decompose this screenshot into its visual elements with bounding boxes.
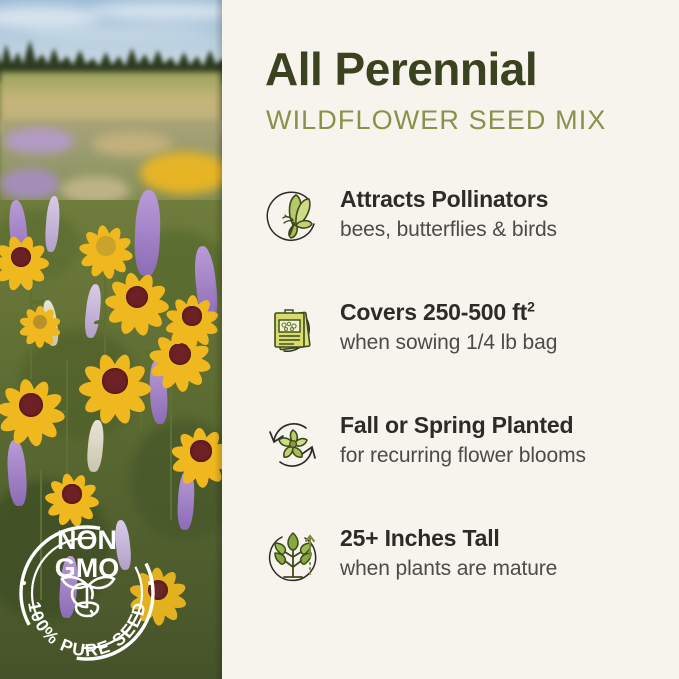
yellow-flower bbox=[44, 466, 100, 522]
yellow-flower bbox=[0, 370, 66, 440]
flower-cycle-icon bbox=[262, 414, 324, 476]
product-infographic: NON GMO 100% PURE SEED bbox=[0, 0, 679, 679]
feature-title-main: Covers 250-500 ft bbox=[340, 299, 527, 325]
feature-item: Attracts Pollinators bees, butterflies &… bbox=[262, 186, 662, 299]
badge-dot bbox=[22, 581, 26, 585]
page-title: All Perennial bbox=[265, 43, 537, 95]
plant-height-icon bbox=[262, 527, 324, 589]
seed-packet-icon bbox=[262, 301, 324, 363]
badge-dot bbox=[148, 581, 152, 585]
feature-title: 25+ Inches Tall bbox=[340, 523, 670, 553]
photo-edge-shadow bbox=[214, 0, 222, 679]
page-subtitle: WILDFLOWER SEED MIX bbox=[266, 104, 606, 136]
yellow-flower bbox=[18, 300, 62, 344]
yellow-flower bbox=[104, 264, 170, 330]
butterfly-icon bbox=[262, 188, 324, 250]
feature-subtitle: for recurring flower blooms bbox=[340, 442, 670, 470]
feature-text: Fall or Spring Planted for recurring flo… bbox=[340, 410, 670, 470]
feature-title: Attracts Pollinators bbox=[340, 184, 670, 214]
non-gmo-badge: NON GMO 100% PURE SEED bbox=[12, 515, 162, 665]
feature-subtitle: when plants are mature bbox=[340, 555, 670, 583]
blurred-flowers bbox=[140, 152, 222, 194]
feature-subtitle: when sowing 1/4 lb bag bbox=[340, 329, 670, 357]
feature-title: Fall or Spring Planted bbox=[340, 410, 670, 440]
badge-arc-text: 100% PURE SEED bbox=[24, 599, 150, 660]
feature-text: 25+ Inches Tall when plants are mature bbox=[340, 523, 670, 583]
yellow-flower bbox=[78, 344, 152, 418]
feature-item: Covers 250-500 ft2 when sowing 1/4 lb ba… bbox=[262, 299, 662, 412]
blurred-flowers bbox=[92, 132, 172, 156]
blurred-flowers bbox=[4, 128, 74, 154]
feature-list: Attracts Pollinators bees, butterflies &… bbox=[262, 186, 662, 638]
feature-subtitle: bees, butterflies & birds bbox=[340, 216, 670, 244]
feature-title: Covers 250-500 ft2 bbox=[340, 297, 670, 327]
badge-line-1: NON bbox=[57, 525, 117, 555]
yellow-flower bbox=[164, 288, 220, 344]
feature-title-superscript: 2 bbox=[527, 298, 535, 314]
feature-item: 25+ Inches Tall when plants are mature bbox=[262, 525, 662, 638]
feature-item: Fall or Spring Planted for recurring flo… bbox=[262, 412, 662, 525]
feature-text: Attracts Pollinators bees, butterflies &… bbox=[340, 184, 670, 244]
yellow-flower bbox=[0, 228, 50, 286]
feature-text: Covers 250-500 ft2 when sowing 1/4 lb ba… bbox=[340, 297, 670, 357]
blurred-flowers bbox=[0, 168, 60, 200]
content-panel: All Perennial WILDFLOWER SEED MIX bbox=[222, 0, 679, 679]
wildflower-meadow-photo: NON GMO 100% PURE SEED bbox=[0, 0, 222, 679]
